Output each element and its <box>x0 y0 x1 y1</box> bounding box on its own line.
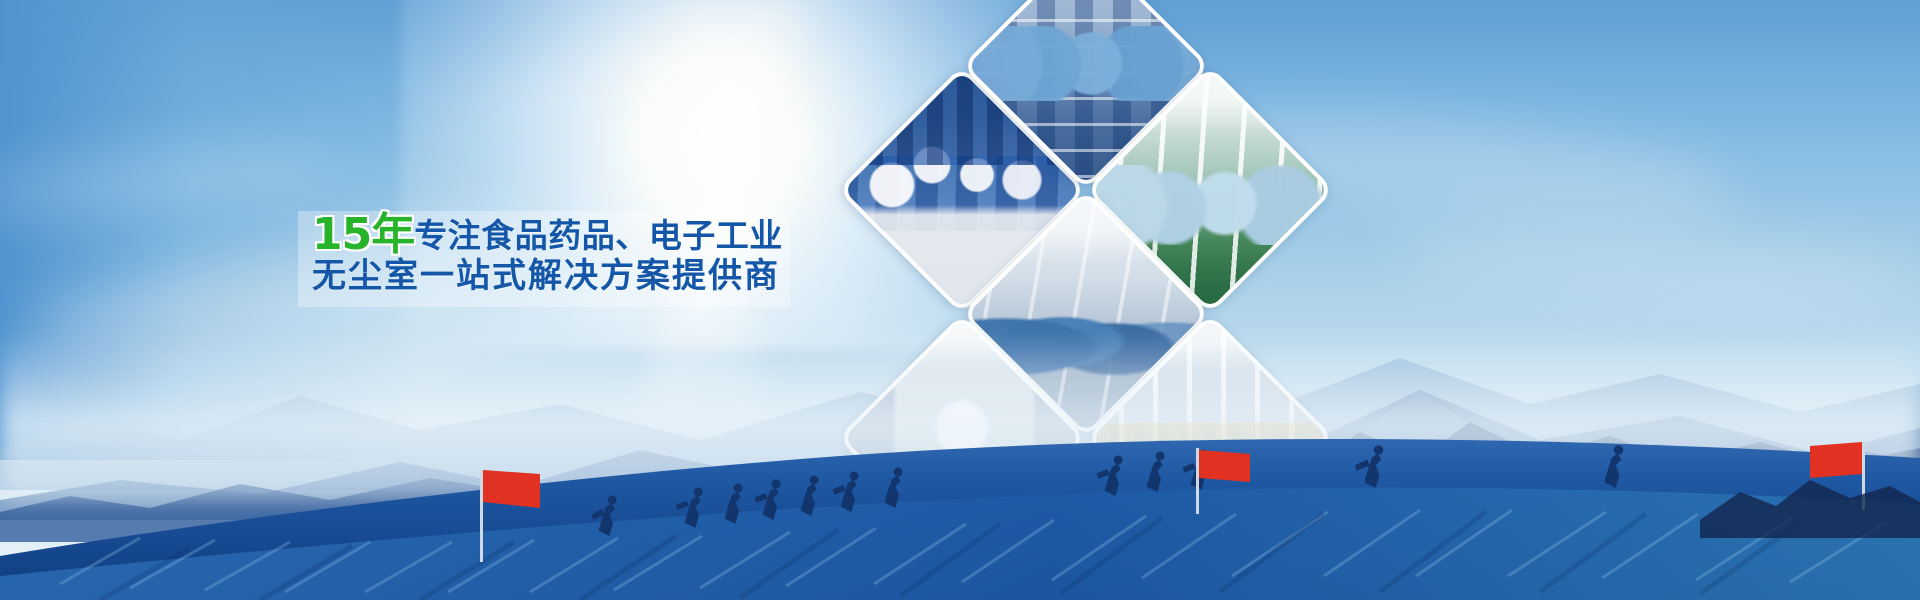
climbers-and-flags-layer <box>0 370 1920 600</box>
red-summit-flag <box>480 470 540 562</box>
headline-line2: 无尘室一站式解决方案提供商 <box>312 256 780 296</box>
headline-text-block: 15年专注食品药品、电子工业 无尘室一站式解决方案提供商 <box>312 213 782 305</box>
rocky-outcrop <box>1700 480 1920 538</box>
headline-line1: 专注食品药品、电子工业 <box>414 216 783 255</box>
hero-banner: 15年专注食品药品、电子工业 无尘室一站式解决方案提供商 <box>0 0 1920 600</box>
years-badge: 15年 <box>312 209 414 260</box>
red-summit-flag <box>1196 448 1250 514</box>
